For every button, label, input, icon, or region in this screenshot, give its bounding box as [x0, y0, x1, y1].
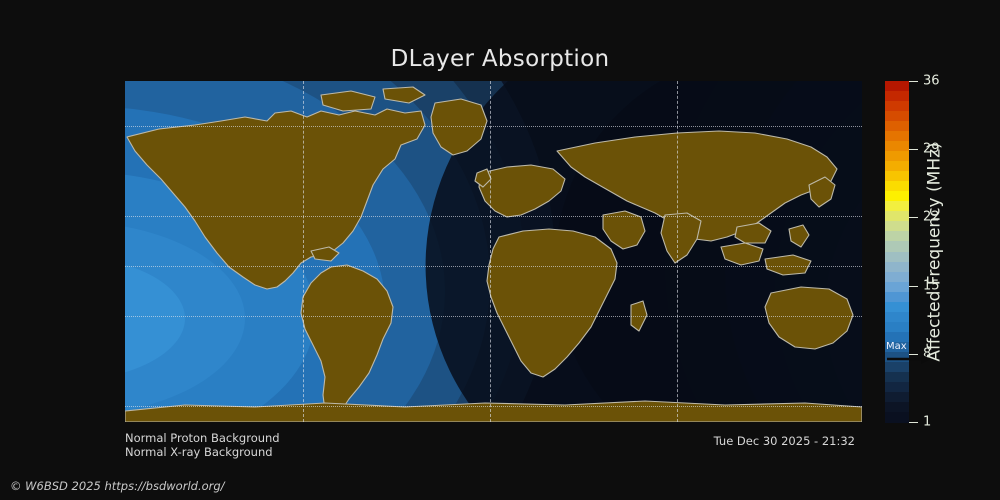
colorbar-segment [885, 262, 909, 273]
max-arrow-icon [887, 353, 931, 365]
colorbar-segment [885, 101, 909, 112]
colorbar-segment [885, 322, 909, 333]
parallel-line [125, 126, 862, 127]
meridian-line [303, 81, 304, 422]
colorbar-axis-label: Affected Frequency (MHz) [915, 81, 955, 422]
colorbar-axis-label-text: Affected Frequency (MHz) [925, 142, 945, 361]
colorbar-segment [885, 382, 909, 393]
parallel-line [125, 406, 862, 407]
map-graticule [125, 81, 862, 422]
colorbar-segment [885, 302, 909, 313]
credit-line: © W6BSD 2025 https://bsdworld.org/ [10, 479, 225, 493]
colorbar-segment [885, 151, 909, 162]
colorbar-segment [885, 221, 909, 232]
colorbar-segment [885, 121, 909, 132]
colorbar-segment [885, 241, 909, 252]
parallel-line [125, 316, 862, 317]
page-title: DLayer Absorption [0, 46, 1000, 72]
colorbar-segment [885, 111, 909, 122]
proton-background-note: Normal Proton Background [125, 431, 280, 445]
colorbar-segment [885, 392, 909, 403]
colorbar-segment [885, 181, 909, 192]
colorbar-segment [885, 231, 909, 242]
colorbar-segment [885, 272, 909, 283]
colorbar-segment [885, 141, 909, 152]
meridian-line [490, 81, 491, 422]
xray-background-note: Normal X-ray Background [125, 445, 273, 459]
colorbar-segment [885, 402, 909, 413]
colorbar-segment [885, 292, 909, 303]
max-marker: Max [886, 341, 932, 367]
colorbar-segment [885, 201, 909, 212]
world-absorption-map[interactable] [125, 81, 862, 422]
colorbar-segment [885, 372, 909, 383]
colorbar-segment [885, 412, 909, 423]
dlayer-absorption-page: DLayer Absorption [0, 0, 1000, 500]
colorbar-segment [885, 282, 909, 293]
meridian-line [677, 81, 678, 422]
colorbar-segment [885, 191, 909, 202]
timestamp: Tue Dec 30 2025 - 21:32 [714, 434, 855, 448]
colorbar-gradient [885, 81, 909, 422]
parallel-line [125, 216, 862, 217]
colorbar-segment [885, 131, 909, 142]
colorbar-tick-mark [909, 422, 918, 423]
colorbar-segment [885, 211, 909, 222]
parallel-line [125, 266, 862, 267]
colorbar-segment [885, 91, 909, 102]
colorbar[interactable] [885, 81, 909, 422]
colorbar-segment [885, 171, 909, 182]
colorbar-segment [885, 312, 909, 323]
max-marker-label: Max [886, 341, 907, 352]
